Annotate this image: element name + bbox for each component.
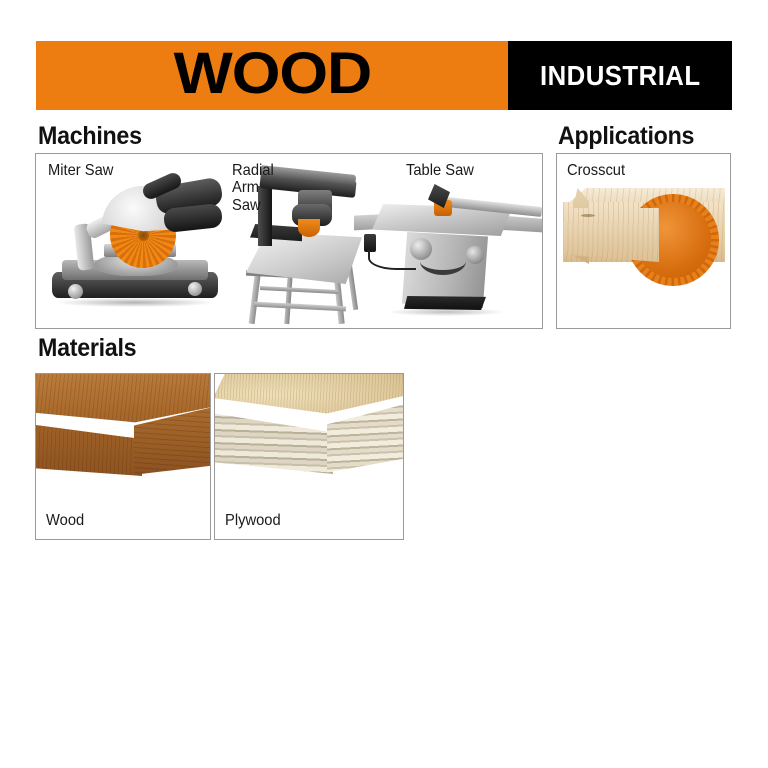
section-heading-machines: Machines [38,122,142,151]
miter-saw-icon [46,172,226,322]
section-heading-applications: Applications [558,122,694,151]
material-label-plywood: Plywood [225,512,281,529]
radial-label-line2: Arm Saw [232,179,261,213]
page-title: WOOD [173,45,370,106]
machine-label-table-saw: Table Saw [406,162,474,179]
panel-applications: Crosscut [556,153,731,329]
panel-material-wood: Wood [35,373,211,540]
header-badge-block: INDUSTRIAL [508,41,732,110]
radial-label-line1: Radial [232,162,274,179]
panel-material-plywood: Plywood [214,373,404,540]
plywood-board-icon [215,374,403,492]
application-label-crosscut: Crosscut [567,162,625,179]
wood-board-icon [36,374,210,492]
panel-machines: Miter Saw RadialArm Saw Table Saw [35,153,543,329]
crosscut-icon [557,154,730,328]
status-badge: INDUSTRIAL [540,60,701,92]
section-heading-materials: Materials [38,334,136,363]
header-banner: WOOD INDUSTRIAL [36,41,732,110]
table-saw-icon [354,176,543,321]
machine-label-radial-arm-saw: RadialArm Saw [232,162,287,214]
machine-label-miter-saw: Miter Saw [48,162,113,179]
material-label-wood: Wood [46,512,84,529]
header-title-block: WOOD [36,41,508,110]
